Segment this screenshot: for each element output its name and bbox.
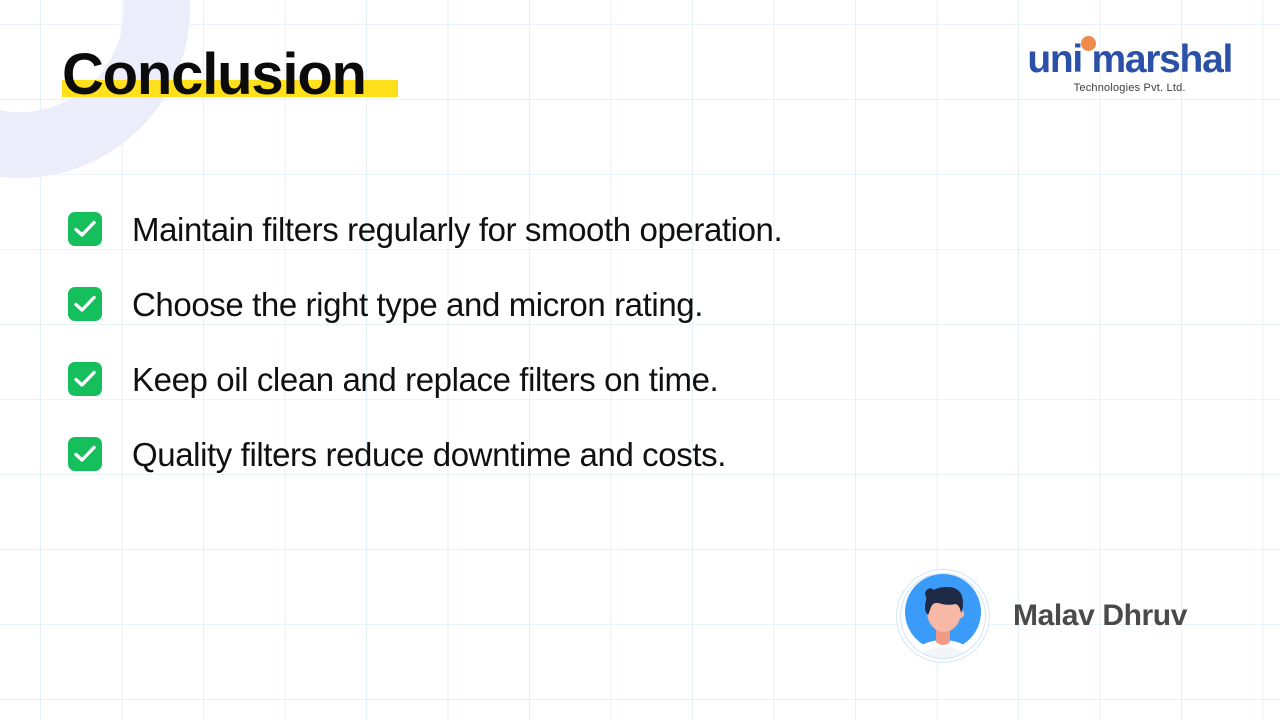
list-item: Keep oil clean and replace filters on ti…: [68, 357, 1068, 401]
list-item: Quality filters reduce downtime and cost…: [68, 432, 1068, 476]
conclusion-checklist: Maintain filters regularly for smooth op…: [68, 207, 1068, 476]
title-group: Conclusion: [62, 46, 366, 104]
presenter-name: Malav Dhruv: [1013, 599, 1187, 633]
company-logo: uni marshal Technologies Pvt. Ltd.: [1027, 40, 1232, 94]
logo-name-text: uni marshal: [1027, 38, 1232, 81]
check-icon: [68, 362, 102, 396]
user-avatar-illustration: [897, 570, 989, 662]
slide-header: Conclusion uni marshal Technologies Pvt.…: [0, 0, 1280, 140]
list-item-label: Quality filters reduce downtime and cost…: [132, 438, 726, 471]
list-item-label: Maintain filters regularly for smooth op…: [132, 213, 782, 246]
list-item-label: Choose the right type and micron rating.: [132, 288, 703, 321]
list-item: Choose the right type and micron rating.: [68, 282, 1068, 326]
presentation-slide: Conclusion uni marshal Technologies Pvt.…: [0, 0, 1280, 720]
check-icon: [68, 437, 102, 471]
logo-wordmark: uni marshal: [1027, 40, 1232, 81]
list-item-label: Keep oil clean and replace filters on ti…: [132, 363, 718, 396]
logo-tagline: Technologies Pvt. Ltd.: [1027, 82, 1232, 94]
check-icon: [68, 287, 102, 321]
page-title: Conclusion: [62, 46, 366, 104]
presenter-credit: Malav Dhruv: [897, 570, 1187, 662]
check-icon: [68, 212, 102, 246]
list-item: Maintain filters regularly for smooth op…: [68, 207, 1068, 251]
